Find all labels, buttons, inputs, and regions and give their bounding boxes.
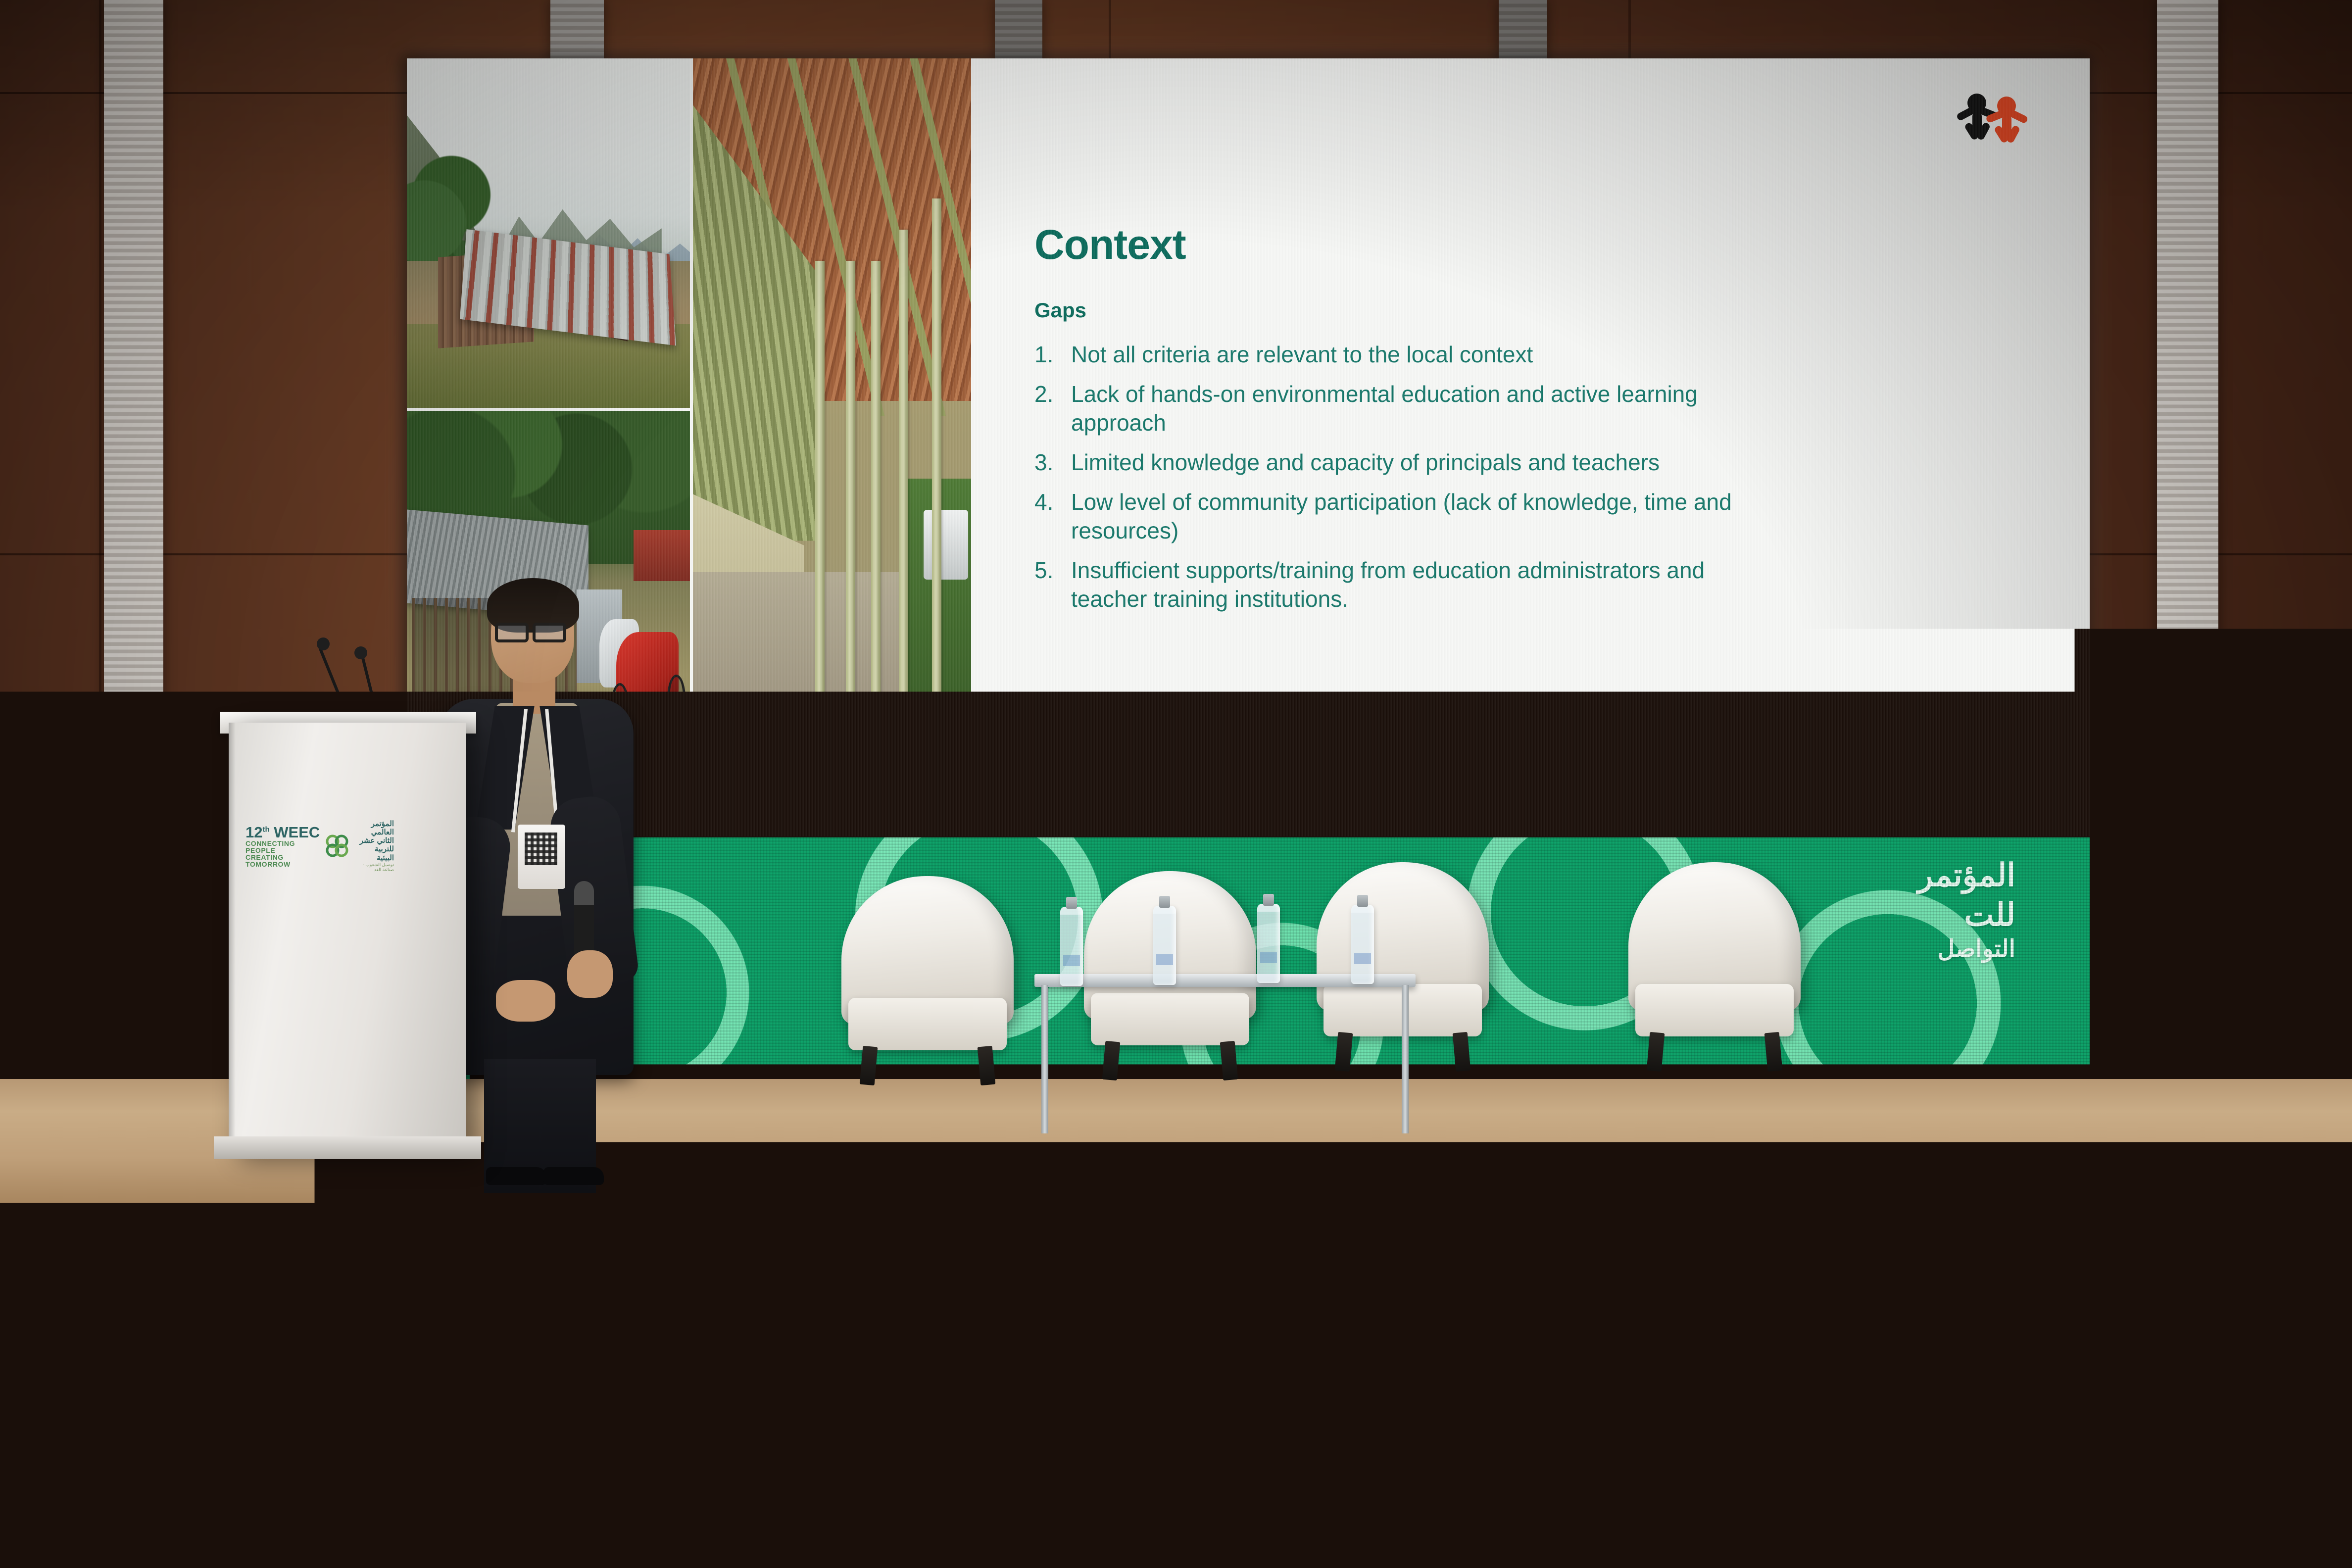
- slide-page-number: 5: [2007, 775, 2016, 794]
- eyeglasses: [495, 623, 529, 642]
- list-item-number: 1.: [1034, 341, 1066, 369]
- podium-logo-edition-suffix: th: [262, 825, 269, 833]
- slide-subtitle: Gaps: [1034, 298, 1086, 322]
- podium: [229, 723, 466, 1153]
- list-item-text: Lack of hands-on environmental education…: [1071, 381, 1698, 436]
- presentation-slide: Context Gaps 1. Not all criteria are rel…: [407, 58, 2090, 836]
- water-bottle: [1060, 907, 1083, 986]
- list-item-number: 3.: [1034, 448, 1066, 477]
- slide-title: Context: [1034, 221, 1186, 269]
- podium-arabic-line2: للتربية البيئية: [355, 845, 394, 862]
- stage-step-upper: [886, 1268, 1747, 1342]
- slide-url: weec2024.org: [1209, 761, 1402, 796]
- stage-step-lower: [841, 1347, 1782, 1431]
- list-item: 1. Not all criteria are relevant to the …: [1034, 341, 1742, 369]
- list-item-text: Insufficient supports/training from educ…: [1071, 557, 1705, 612]
- list-item-number: 4.: [1034, 488, 1066, 517]
- podium-base: [214, 1136, 481, 1159]
- podium-microphone-head: [354, 646, 367, 659]
- wall-pilaster: [2157, 0, 2218, 1193]
- podium-tagline-line1: CONNECTING PEOPLE: [245, 840, 320, 854]
- stage-armchair: [841, 876, 1014, 1074]
- slide-gap-list: 1. Not all criteria are relevant to the …: [1034, 341, 1742, 625]
- list-item: 3. Limited knowledge and capacity of pri…: [1034, 448, 1742, 477]
- podium-tagline-line2: CREATING TOMORROW: [245, 854, 320, 868]
- wall-pilaster: [104, 0, 163, 1193]
- podium-microphone-head: [317, 637, 330, 650]
- podium-arabic-line1: المؤتمر العالمي الثاني عشر: [355, 820, 394, 845]
- audience-chair: [436, 1336, 752, 1568]
- list-item: 4. Low level of community participation …: [1034, 488, 1742, 545]
- list-item-text: Low level of community participation (la…: [1071, 489, 1732, 543]
- stage-glass-table: [1034, 974, 1416, 1142]
- slide-photo-school-corridor: [693, 58, 971, 836]
- podium-weec-logo: 12th WEEC CONNECTING PEOPLE CREATING TOM…: [245, 828, 394, 864]
- weec-two-figures-logo: [1946, 88, 2035, 147]
- list-item-number: 2.: [1034, 380, 1066, 409]
- list-item-text: Limited knowledge and capacity of princi…: [1071, 449, 1660, 475]
- list-item-number: 5.: [1034, 556, 1066, 585]
- slide-photo-rural-school-mountains: [407, 58, 690, 408]
- list-item: 5. Insufficient supports/training from e…: [1034, 556, 1742, 614]
- conference-badge: [518, 825, 565, 889]
- eyeglasses: [533, 623, 566, 642]
- qr-code-icon: [525, 833, 557, 865]
- water-bottle: [1153, 906, 1176, 985]
- podium-logo-name: WEEC: [274, 824, 320, 841]
- conference-room-photo: Context Gaps 1. Not all criteria are rel…: [0, 0, 2352, 1568]
- weec-knot-emblem-icon: [325, 834, 350, 857]
- water-bottle: [1351, 905, 1374, 984]
- audience-chair: [0, 1356, 148, 1568]
- stage-armchair: [1628, 862, 1801, 1060]
- podium-arabic-line3: توصيل الشعوب - صناعة الغد: [355, 862, 394, 873]
- list-item-text: Not all criteria are relevant to the loc…: [1071, 342, 1533, 367]
- water-bottle: [1257, 904, 1280, 983]
- list-item: 2. Lack of hands-on environmental educat…: [1034, 380, 1742, 438]
- podium-logo-edition: 12: [245, 824, 262, 841]
